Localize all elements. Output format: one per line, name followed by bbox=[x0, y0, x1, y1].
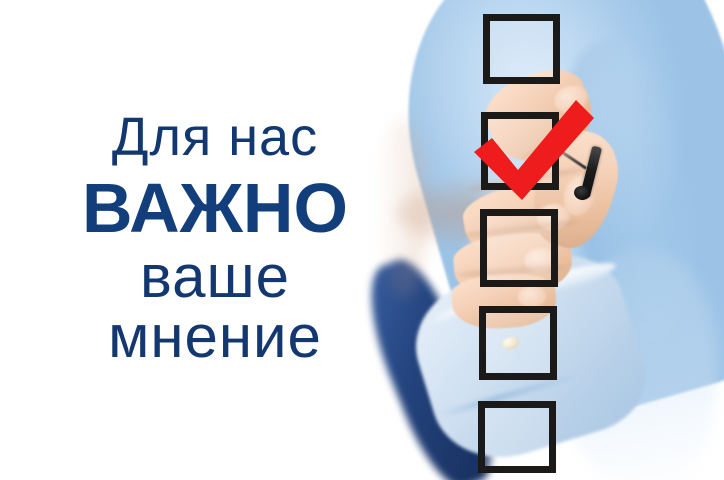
checkbox-4[interactable] bbox=[479, 306, 557, 380]
checkbox-5-interior bbox=[485, 408, 549, 466]
checkbox-5[interactable] bbox=[478, 401, 556, 473]
checkbox-3[interactable] bbox=[480, 209, 558, 287]
checkbox-4-interior bbox=[486, 313, 550, 373]
checkbox-2-interior bbox=[488, 119, 552, 183]
photo-hand-with-checklist bbox=[330, 0, 724, 480]
checkbox-1-interior bbox=[490, 21, 553, 77]
checkbox-2[interactable] bbox=[481, 112, 559, 190]
survey-banner: Для нас ВАЖНО ваше мнение bbox=[0, 0, 724, 480]
checkbox-1[interactable] bbox=[483, 14, 560, 84]
checkbox-3-interior bbox=[487, 216, 551, 280]
